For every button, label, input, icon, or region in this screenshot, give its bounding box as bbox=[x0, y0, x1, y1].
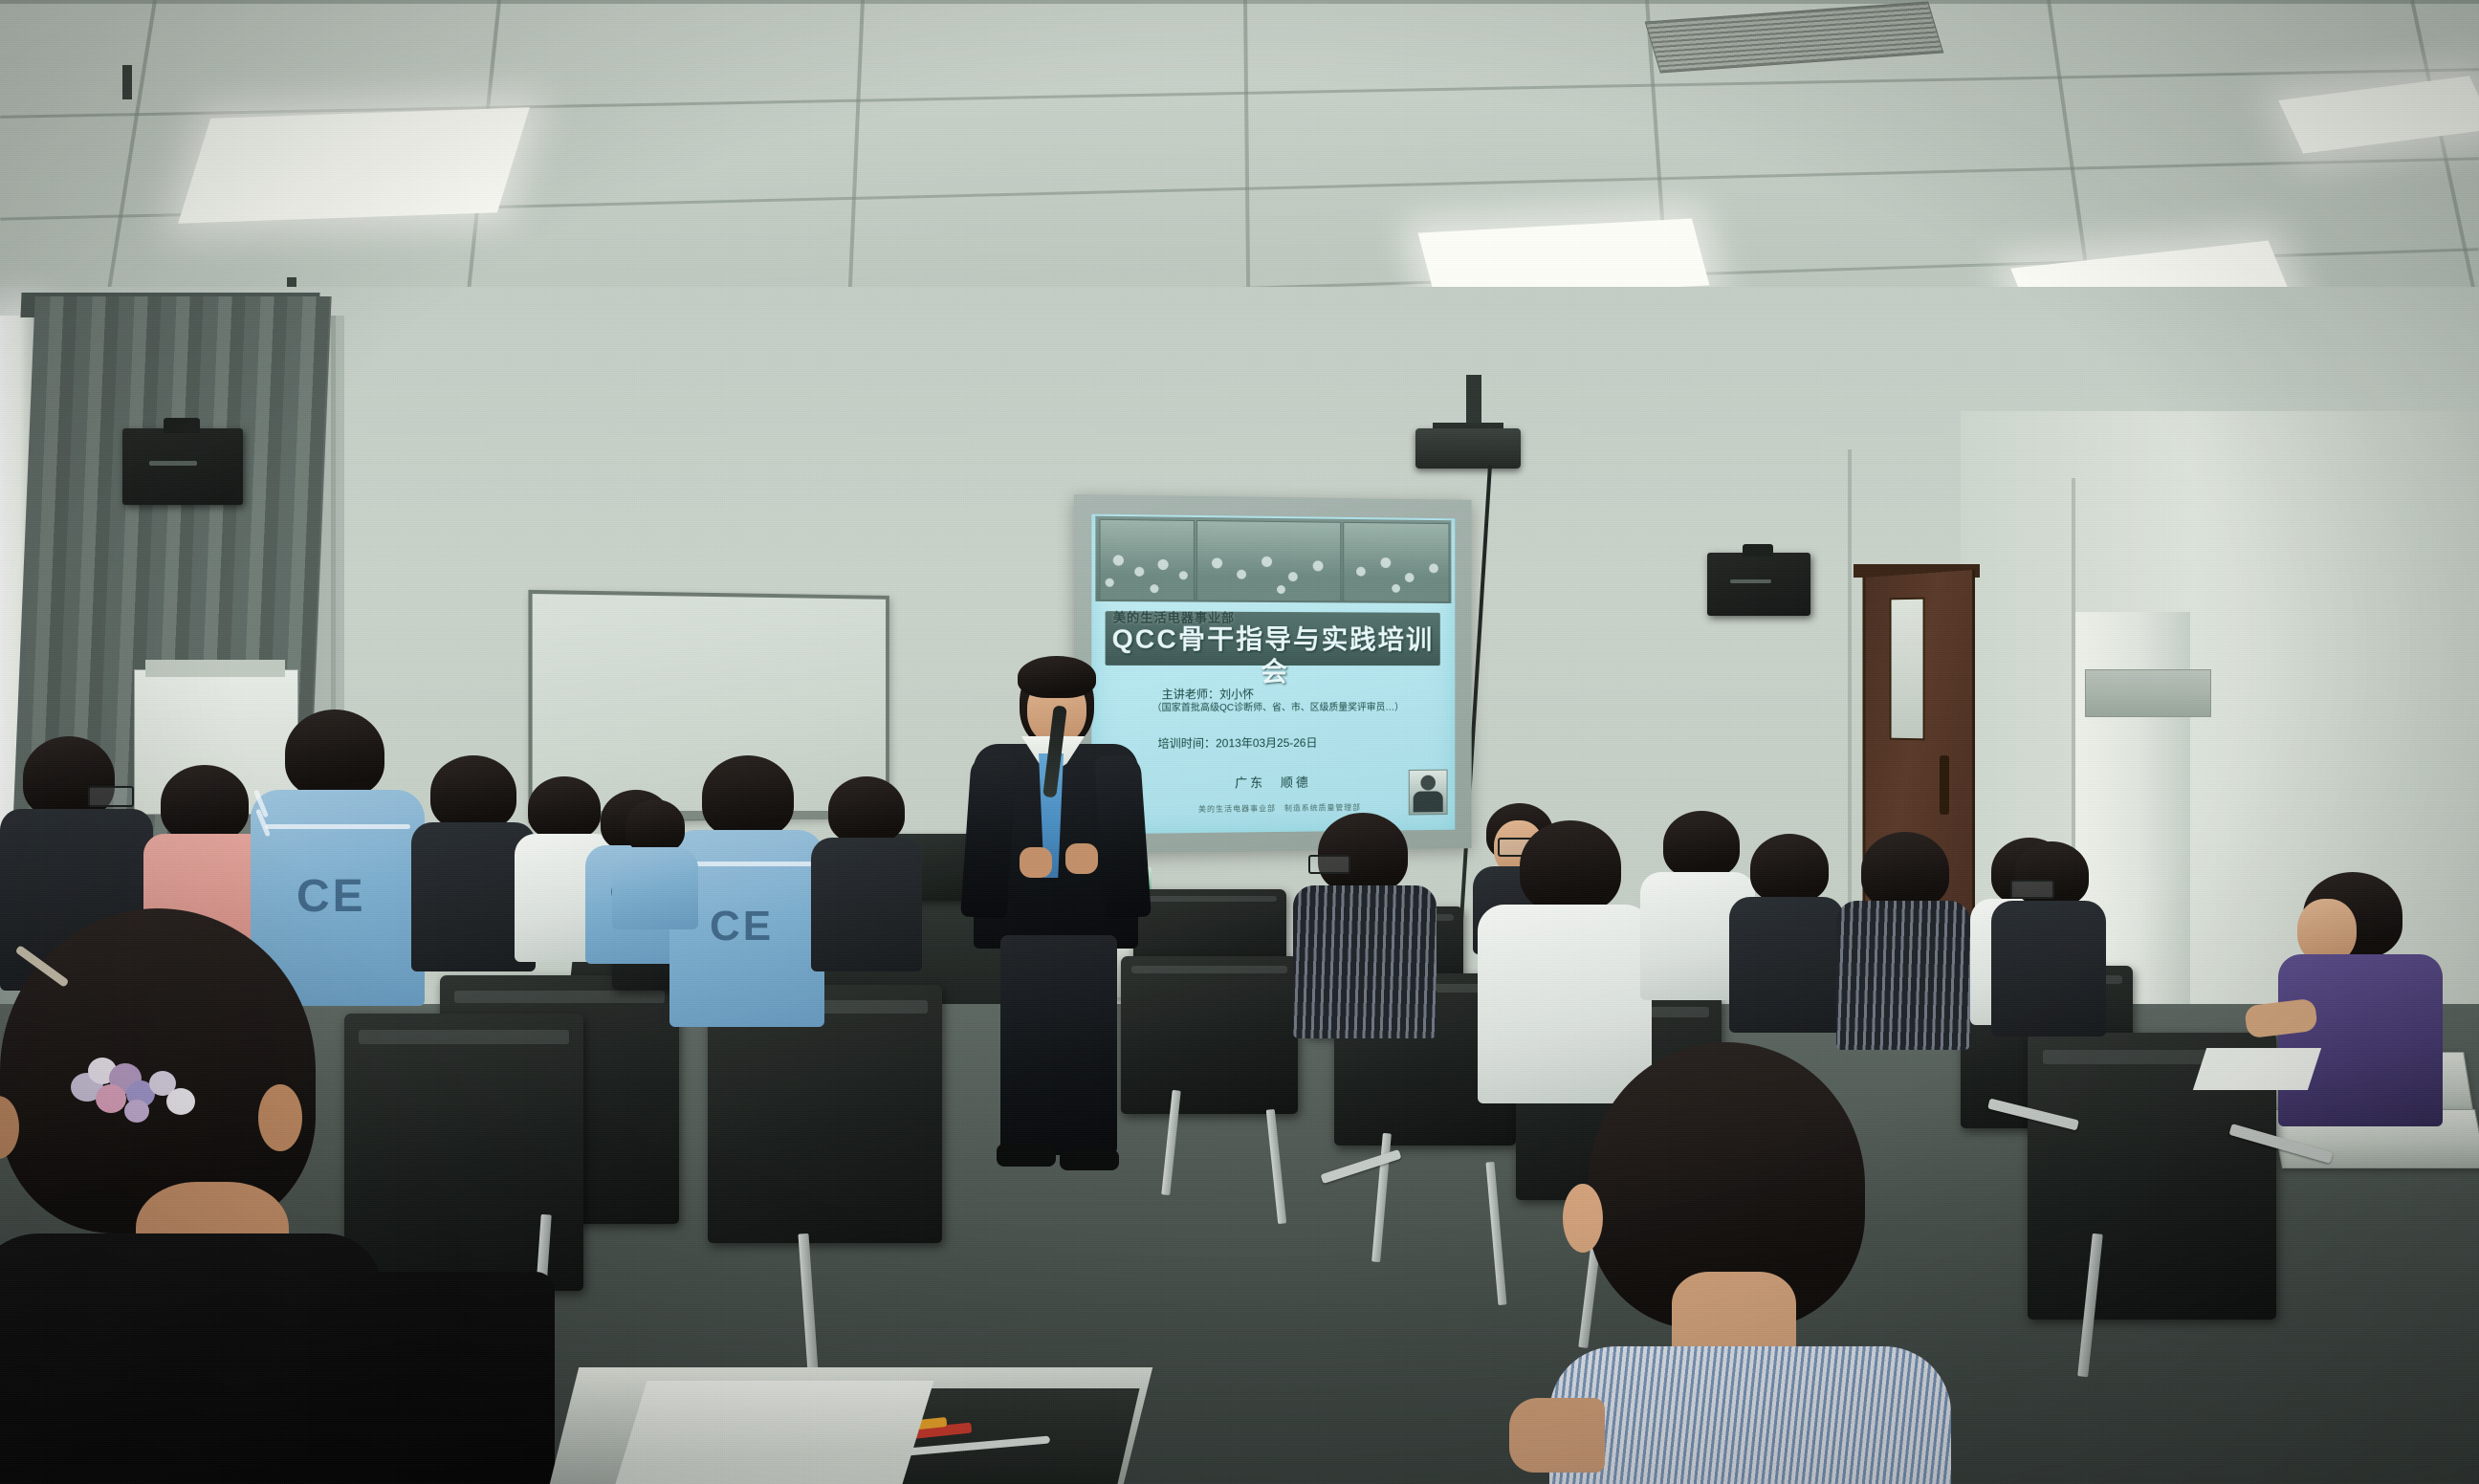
cabinet-top bbox=[145, 660, 285, 677]
presenter-hand-left bbox=[1020, 847, 1052, 878]
ceiling-light-1 bbox=[178, 107, 530, 223]
eyeglasses bbox=[88, 786, 134, 807]
slide-credential-line: （国家首批高级QC诊断师、省、市、区级质量奖评审员…） bbox=[1152, 702, 1403, 716]
attendee bbox=[1991, 841, 2106, 1033]
attendee bbox=[1293, 813, 1437, 1033]
white-paper-stack bbox=[615, 1381, 933, 1484]
slide-location-line: 广东 顺德 bbox=[1235, 773, 1311, 792]
attendee bbox=[811, 776, 922, 968]
slide-photo-banner bbox=[1095, 516, 1451, 603]
door-handle[interactable] bbox=[1940, 755, 1949, 815]
wall-mounted-utility-box bbox=[2085, 669, 2211, 717]
foreground-attendee-right bbox=[1549, 1042, 1961, 1484]
slide-speaker-line: 主讲老师：刘小怀 bbox=[1162, 687, 1255, 702]
presenter-shoe bbox=[997, 1144, 1056, 1167]
ceiling-mounted-projector bbox=[1415, 428, 1521, 469]
wall-speaker-right bbox=[1707, 553, 1810, 616]
attendee bbox=[612, 799, 698, 924]
door-glass-pane bbox=[1890, 598, 1925, 741]
attendee bbox=[1836, 832, 1970, 1042]
presenter bbox=[947, 660, 1167, 1176]
floral-hair-clip bbox=[67, 1052, 210, 1115]
attendee bbox=[1729, 834, 1844, 1025]
foreground-hand bbox=[1509, 1398, 1605, 1473]
ceiling-air-vent-2 bbox=[1645, 2, 1944, 74]
presenter-shoe bbox=[1060, 1149, 1119, 1170]
classroom-photo-scene: 美的生活电器事业部 QCC骨干指导与实践培训会 主讲老师：刘小怀 （国家首批高级… bbox=[0, 0, 2479, 1484]
eyeglasses bbox=[1308, 855, 1350, 874]
eyeglasses bbox=[2010, 880, 2054, 899]
presenter-hand-right bbox=[1065, 843, 1098, 874]
ear bbox=[258, 1084, 302, 1151]
white-paper-on-desk bbox=[2193, 1048, 2321, 1090]
speaker-portrait-icon bbox=[1409, 770, 1448, 816]
foreground-attendee-shoulder bbox=[306, 1272, 555, 1484]
wall-speaker-left bbox=[122, 428, 243, 505]
ceiling-hook-1 bbox=[122, 65, 132, 99]
ear bbox=[1563, 1184, 1603, 1253]
slide-date-line: 培训时间：2013年03月25-26日 bbox=[1158, 734, 1318, 752]
uniform-back-mark: CE bbox=[710, 903, 774, 950]
ceiling-light-6 bbox=[2278, 76, 2479, 153]
